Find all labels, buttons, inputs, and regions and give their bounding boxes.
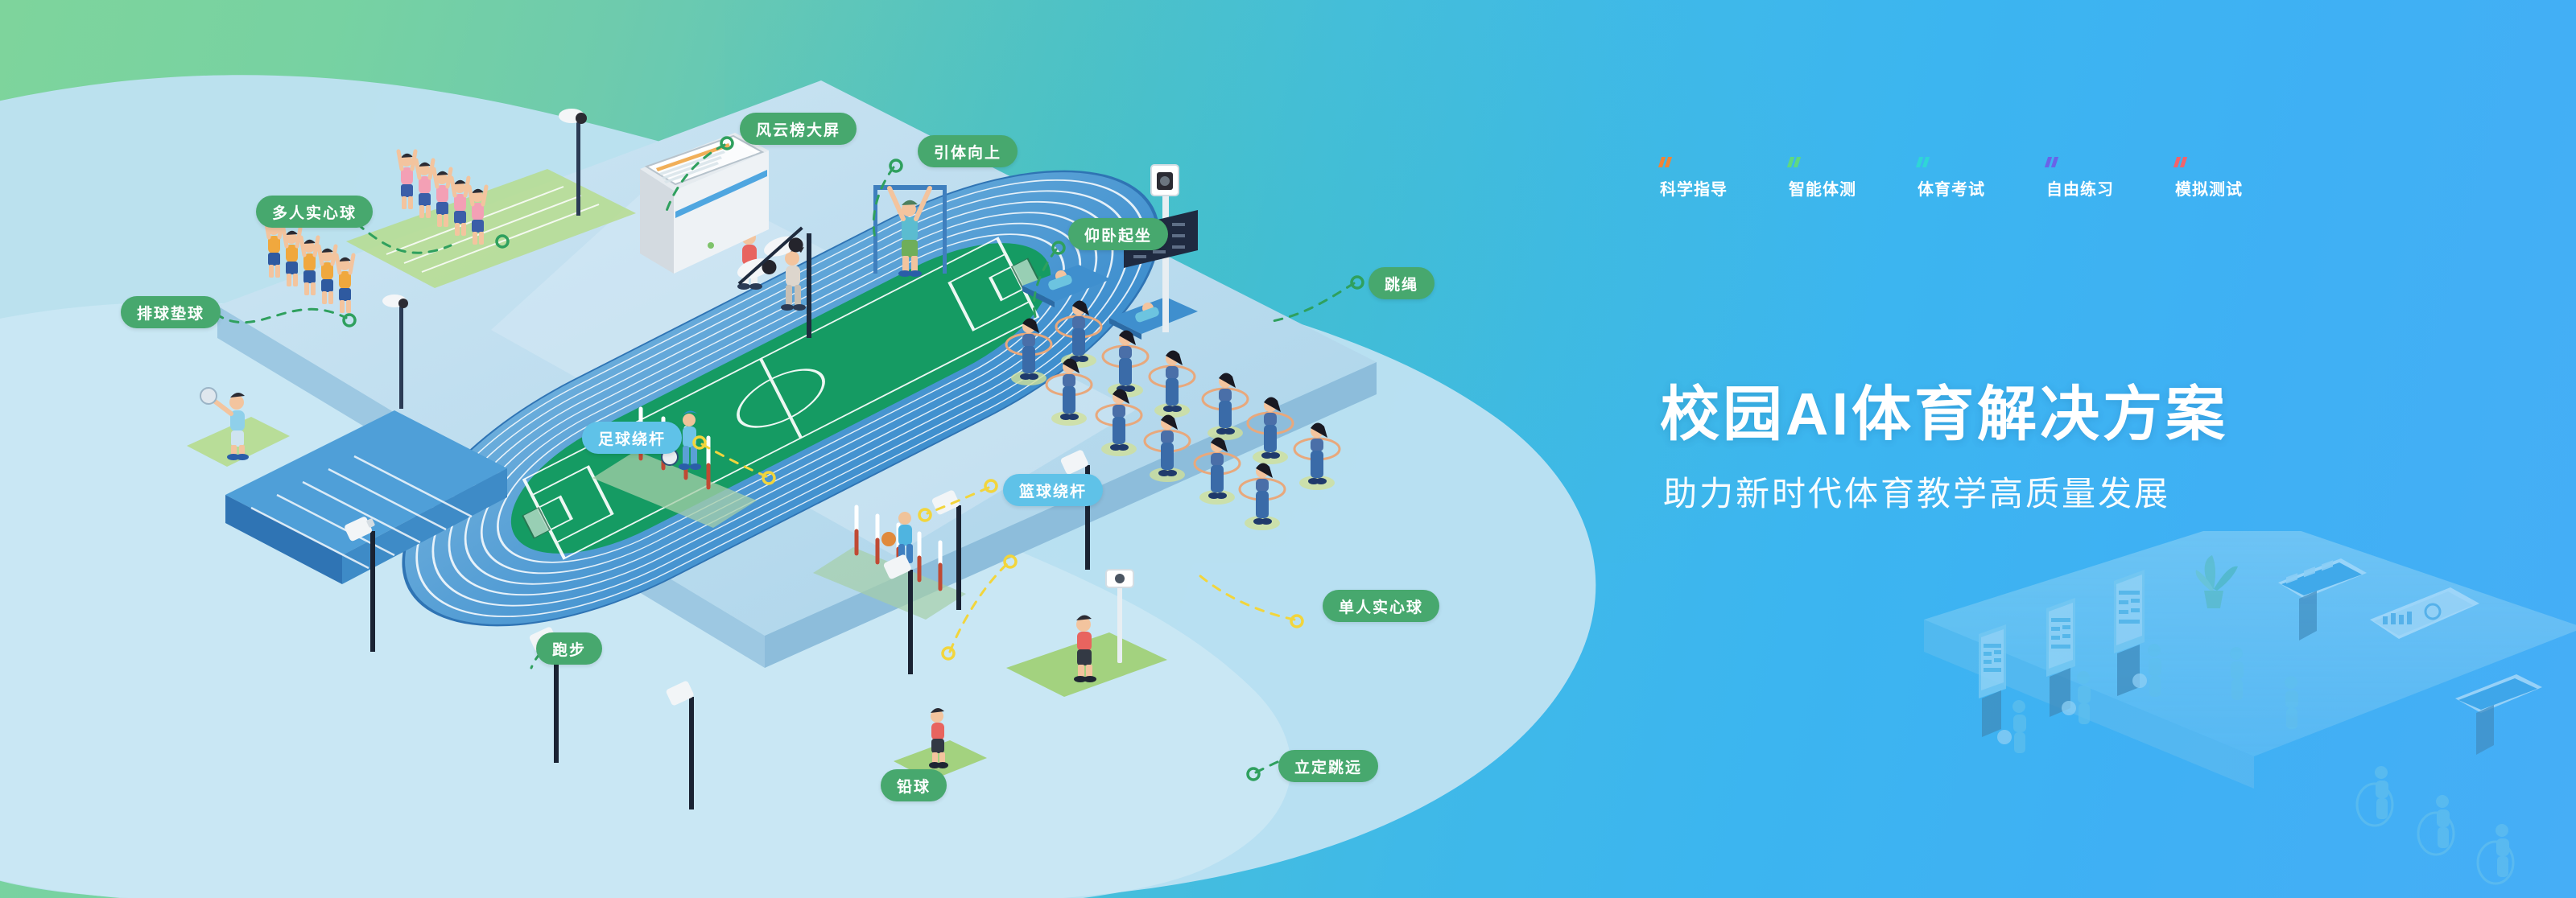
hotspot-tag-label: 跑步	[552, 638, 586, 660]
hotspot-tag-single-person-shot-put[interactable]: 单人实心球	[1323, 590, 1439, 622]
feature-tag-list: 科学指导智能体测体育考试自由练习模拟测试	[1660, 157, 2304, 200]
double-slash-icon	[1789, 157, 1805, 167]
feature-item-label: 体育考试	[1918, 176, 2046, 200]
hotspot-tag-label: 多人实心球	[272, 201, 357, 223]
hotspot-tag-pull-up[interactable]: 引体向上	[918, 135, 1018, 167]
hotspot-tag-label: 风云榜大屏	[756, 118, 840, 140]
hotspot-tag-running[interactable]: 跑步	[536, 632, 602, 665]
hotspot-tag-multi-person-shot-put[interactable]: 多人实心球	[256, 196, 373, 228]
feature-item-0[interactable]: 科学指导	[1660, 157, 1789, 200]
hotspot-tag-volleyball-bump[interactable]: 排球垫球	[121, 296, 221, 328]
double-slash-icon	[2046, 157, 2062, 167]
camera-pole-7	[883, 554, 913, 674]
feature-item-label: 自由练习	[2046, 176, 2175, 200]
feature-item-4[interactable]: 模拟测试	[2175, 157, 2304, 200]
hotspot-tag-label: 仰卧起坐	[1084, 224, 1152, 245]
hotspot-tag-standing-long-jump[interactable]: 立定跳远	[1278, 750, 1378, 782]
standing-long-jump-area	[1006, 570, 1167, 697]
feature-item-2[interactable]: 体育考试	[1918, 157, 2046, 200]
stadium-illustration	[185, 72, 1409, 845]
hotspot-tag-label: 篮球绕杆	[1019, 480, 1087, 501]
double-slash-icon	[1918, 157, 1934, 167]
feature-item-label: 智能体测	[1789, 176, 1918, 200]
hotspot-tag-label: 足球绕杆	[598, 427, 666, 449]
hotspot-tag-basketball-slalom[interactable]: 篮球绕杆	[1003, 474, 1103, 506]
hero-banner: 排球垫球多人实心球风云榜大屏引体向上仰卧起坐跳绳足球绕杆篮球绕杆跑步铅球单人实心…	[0, 0, 2576, 898]
feature-item-label: 科学指导	[1660, 176, 1789, 200]
hotspot-tag-label: 跳绳	[1385, 273, 1418, 295]
gym-room-illustration	[1876, 531, 2576, 898]
hotspot-tag-label: 立定跳远	[1294, 756, 1362, 777]
hotspot-tag-shot-put[interactable]: 铅球	[881, 769, 947, 801]
camera-pole-4	[344, 513, 378, 652]
page-title: 校园AI体育解决方案	[1660, 366, 2228, 452]
hotspot-tag-label: 排球垫球	[137, 302, 204, 323]
hotspot-tag-rope-skipping[interactable]: 跳绳	[1368, 267, 1435, 299]
double-slash-icon	[1660, 157, 1676, 167]
hotspot-tag-label: 单人实心球	[1339, 595, 1423, 617]
page-subtitle: 助力新时代体育教学高质量发展	[1663, 467, 2170, 516]
feature-item-3[interactable]: 自由练习	[2046, 157, 2175, 200]
hotspot-tag-leaderboard-screen[interactable]: 风云榜大屏	[740, 113, 857, 145]
camera-pole-6	[665, 680, 694, 809]
hotspot-tag-soccer-slalom[interactable]: 足球绕杆	[582, 422, 682, 454]
feature-item-label: 模拟测试	[2175, 176, 2304, 200]
feature-item-1[interactable]: 智能体测	[1789, 157, 1918, 200]
hotspot-tag-sit-up[interactable]: 仰卧起坐	[1068, 218, 1168, 250]
hotspot-tag-label: 引体向上	[934, 141, 1001, 163]
double-slash-icon	[2175, 157, 2191, 167]
hotspot-tag-label: 铅球	[897, 775, 931, 797]
volleyball-player	[187, 388, 290, 467]
